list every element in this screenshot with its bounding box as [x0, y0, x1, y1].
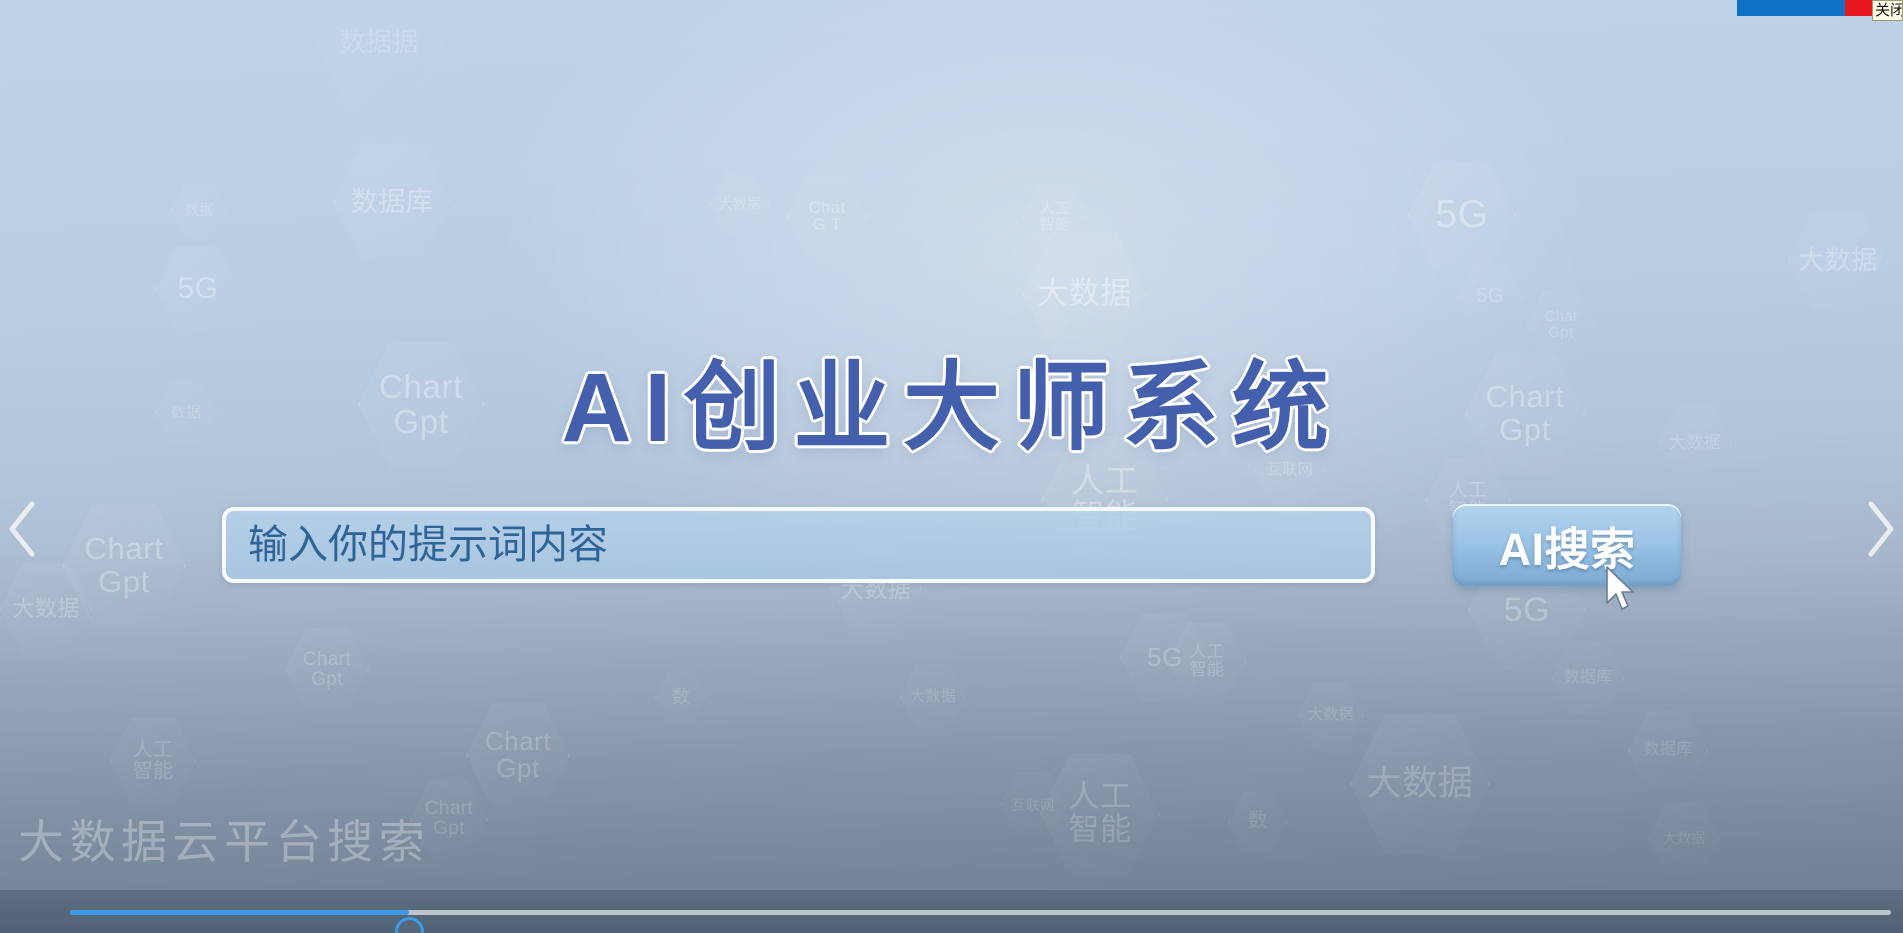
- background-hex-label: 5G: [1504, 593, 1551, 629]
- background-hex-tag: ChartGpt: [466, 700, 570, 810]
- background-hex-tag: 数: [1228, 790, 1288, 854]
- hero-banner: 数据据数据库数据5G大数据ChatG T人工智能大数据互联网5G大数据5GCha…: [0, 0, 1903, 900]
- background-hex-tag: 互联网: [1000, 770, 1066, 840]
- background-hex-tag: 人工智能: [1168, 620, 1246, 703]
- background-hex-label: 5G: [1476, 286, 1503, 307]
- background-hex-tag: 大数据: [900, 662, 966, 732]
- background-hex-label: 大数据: [1037, 278, 1132, 311]
- background-hex-label: 人工智能: [133, 740, 174, 782]
- background-hex-label: 数: [672, 688, 690, 707]
- top-red-indicator[interactable]: [1845, 0, 1872, 16]
- background-hex-label: 数据: [185, 203, 214, 218]
- background-hex-label: 大数据: [719, 197, 762, 212]
- background-hex-tag: 5G: [1120, 610, 1210, 705]
- background-hex-label: 人工智能: [1190, 643, 1225, 679]
- background-hex-tag: 数据: [171, 181, 227, 240]
- background-hex-tag: 5G: [1457, 262, 1523, 332]
- background-hex-label: 5G: [1147, 644, 1183, 671]
- background-hex-tag: ChatG T: [786, 173, 868, 260]
- background-hex-tag: 5G: [155, 243, 241, 334]
- background-hex-tag: 大数据: [1298, 680, 1364, 750]
- background-hex-label: 数据库: [1644, 742, 1693, 759]
- background-hex-tag: 大数据: [1648, 800, 1720, 876]
- progress-slider-fill: [70, 910, 409, 915]
- background-hex-label: ChatG T: [808, 199, 845, 235]
- media-player-bar: [0, 890, 1903, 933]
- background-hex-label: 大数据: [1798, 247, 1878, 274]
- background-hex-label: ChartGpt: [485, 728, 551, 783]
- background-hex-tag: 数据库: [1552, 640, 1624, 716]
- background-hex-tag: 人工智能: [1022, 182, 1088, 252]
- background-hex-label: 5G: [177, 273, 218, 305]
- close-tooltip: 关闭: [1872, 0, 1903, 21]
- progress-slider-handle[interactable]: [395, 917, 424, 933]
- background-hex-label: 大数据: [1308, 707, 1354, 723]
- background-hex-label: 大数据: [910, 689, 956, 705]
- background-hex-tag: 数: [655, 670, 707, 725]
- background-hex-label: 数据库: [1564, 670, 1613, 687]
- app-root: 数据据数据库数据5G大数据ChatG T人工智能大数据互联网5G大数据5GCha…: [0, 0, 1903, 933]
- background-hex-tag: 5G: [1408, 158, 1516, 272]
- background-hex-tag: 数据库: [333, 140, 451, 265]
- carousel-prev-button[interactable]: [2, 494, 46, 564]
- chevron-left-icon: [2, 494, 46, 564]
- background-hex-label: 数据据: [339, 29, 419, 56]
- search-input[interactable]: [222, 507, 1375, 583]
- background-hex-tag: 数据库: [1628, 708, 1708, 793]
- background-hex-tag: 人工智能: [1040, 750, 1160, 877]
- page-title: AI创业大师系统: [0, 328, 1903, 469]
- top-blue-progress-bar: [1737, 0, 1845, 16]
- background-hex-label: 大数据: [1366, 766, 1473, 803]
- carousel-next-button[interactable]: [1857, 494, 1901, 564]
- search-row: AI搜索: [0, 504, 1903, 586]
- background-hex-label: 人工智能: [1040, 201, 1071, 233]
- background-hex-tag: 大数据: [1788, 208, 1888, 314]
- background-hex-label: 数: [1248, 811, 1268, 832]
- background-hex-tag: 大数据: [1350, 710, 1490, 858]
- background-hex-label: 数据库: [351, 188, 434, 216]
- background-hex-label: ChartGpt: [425, 799, 473, 839]
- progress-slider-track[interactable]: [70, 910, 1891, 915]
- background-hex-label: 大数据: [12, 597, 79, 620]
- background-hex-tag: 大数据: [710, 173, 770, 237]
- background-hex-label: 大数据: [1663, 831, 1706, 846]
- background-hex-tag: 数据据: [315, 0, 443, 111]
- background-hex-label: 5G: [1435, 195, 1489, 236]
- ai-search-button[interactable]: AI搜索: [1453, 504, 1681, 586]
- chevron-right-icon: [1857, 494, 1901, 564]
- background-hex-tag: ChartGpt: [285, 625, 369, 714]
- background-hex-label: 互联网: [1012, 798, 1055, 813]
- background-hex-tag: 人工智能: [110, 715, 196, 806]
- background-hex-label: ChartGpt: [303, 650, 351, 690]
- background-hex-label: 人工智能: [1068, 781, 1131, 846]
- brand-watermark: 大数据云平台搜索: [18, 806, 430, 872]
